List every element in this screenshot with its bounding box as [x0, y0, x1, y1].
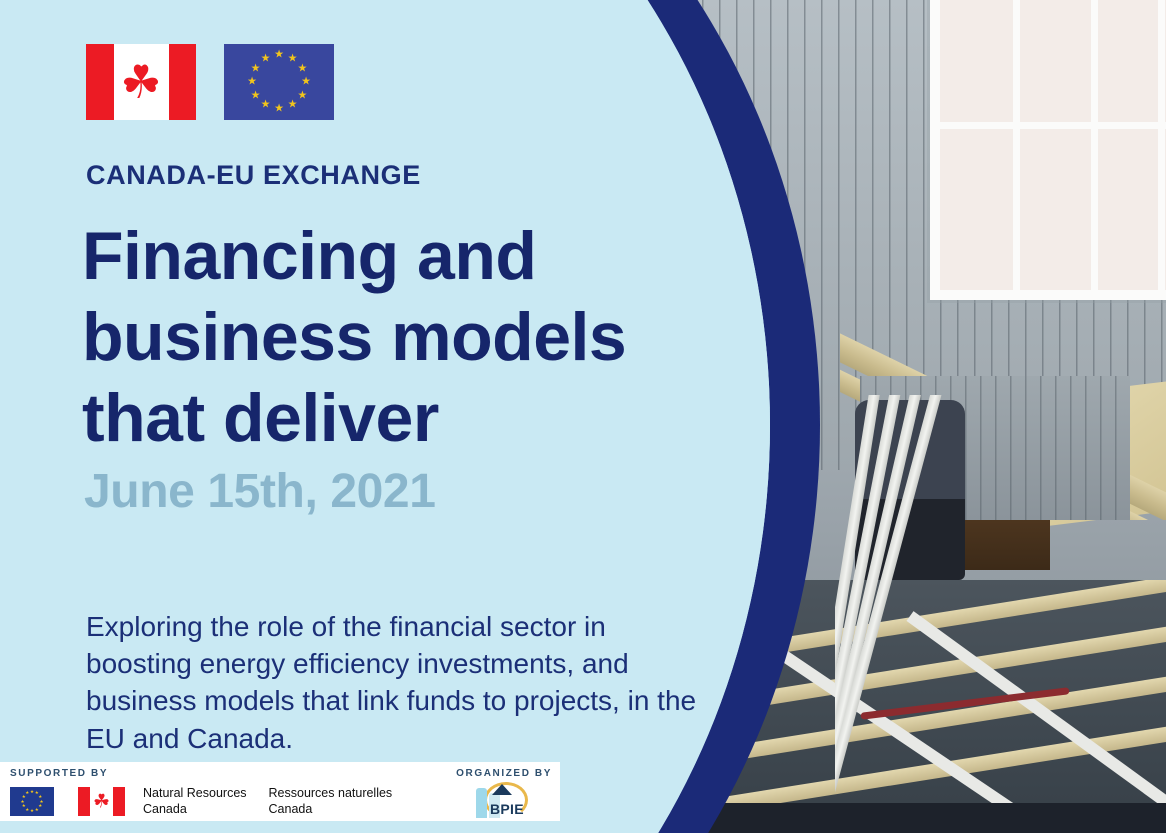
event-poster: ☘ ★★★★★★★★★★★★ CANADA-EU EXCHANGE Financ…: [0, 0, 1166, 833]
maple-leaf-icon-small: ☘: [93, 792, 110, 811]
canada-flag: ☘: [86, 44, 196, 120]
supporter-logos: ★★★★★★★★★★★★ ☘ Natural Resources Canada …: [10, 786, 414, 817]
nrcan-label-fr: Ressources naturelles Canada: [269, 786, 393, 817]
maple-leaf-icon: ☘: [120, 59, 161, 105]
organized-by-label: ORGANIZED BY: [456, 768, 552, 779]
footer-bar: SUPPORTED BY ORGANIZED BY ★★★★★★★★★★★★ ☘…: [0, 762, 560, 821]
supported-by-label: SUPPORTED BY: [10, 768, 108, 779]
eu-flag-small: ★★★★★★★★★★★★: [10, 787, 54, 816]
bpie-bar-left-icon: [476, 788, 487, 818]
event-date: June 15th, 2021: [84, 464, 436, 519]
eu-flag: ★★★★★★★★★★★★: [224, 44, 334, 120]
scaffolding-poles: [835, 395, 1166, 833]
eyebrow-text: CANADA-EU EXCHANGE: [86, 160, 421, 191]
bpie-wordmark: BPIE: [490, 801, 524, 817]
bpie-roof-icon: [492, 784, 512, 795]
eu-stars-circle: ★★★★★★★★★★★★: [252, 55, 306, 109]
eu-stars-circle-small: ★★★★★★★★★★★★: [23, 792, 42, 811]
bpie-logo: BPIE: [476, 782, 546, 818]
nrcan-label-en: Natural Resources Canada: [143, 786, 247, 817]
page-title: Financing and business models that deliv…: [82, 216, 722, 459]
flag-row: ☘ ★★★★★★★★★★★★: [86, 44, 334, 120]
description-text: Exploring the role of the financial sect…: [86, 608, 706, 757]
canada-flag-small: ☘: [78, 787, 125, 816]
main-window: [930, 0, 1166, 300]
poster-content: ☘ ★★★★★★★★★★★★ CANADA-EU EXCHANGE Financ…: [0, 0, 760, 833]
